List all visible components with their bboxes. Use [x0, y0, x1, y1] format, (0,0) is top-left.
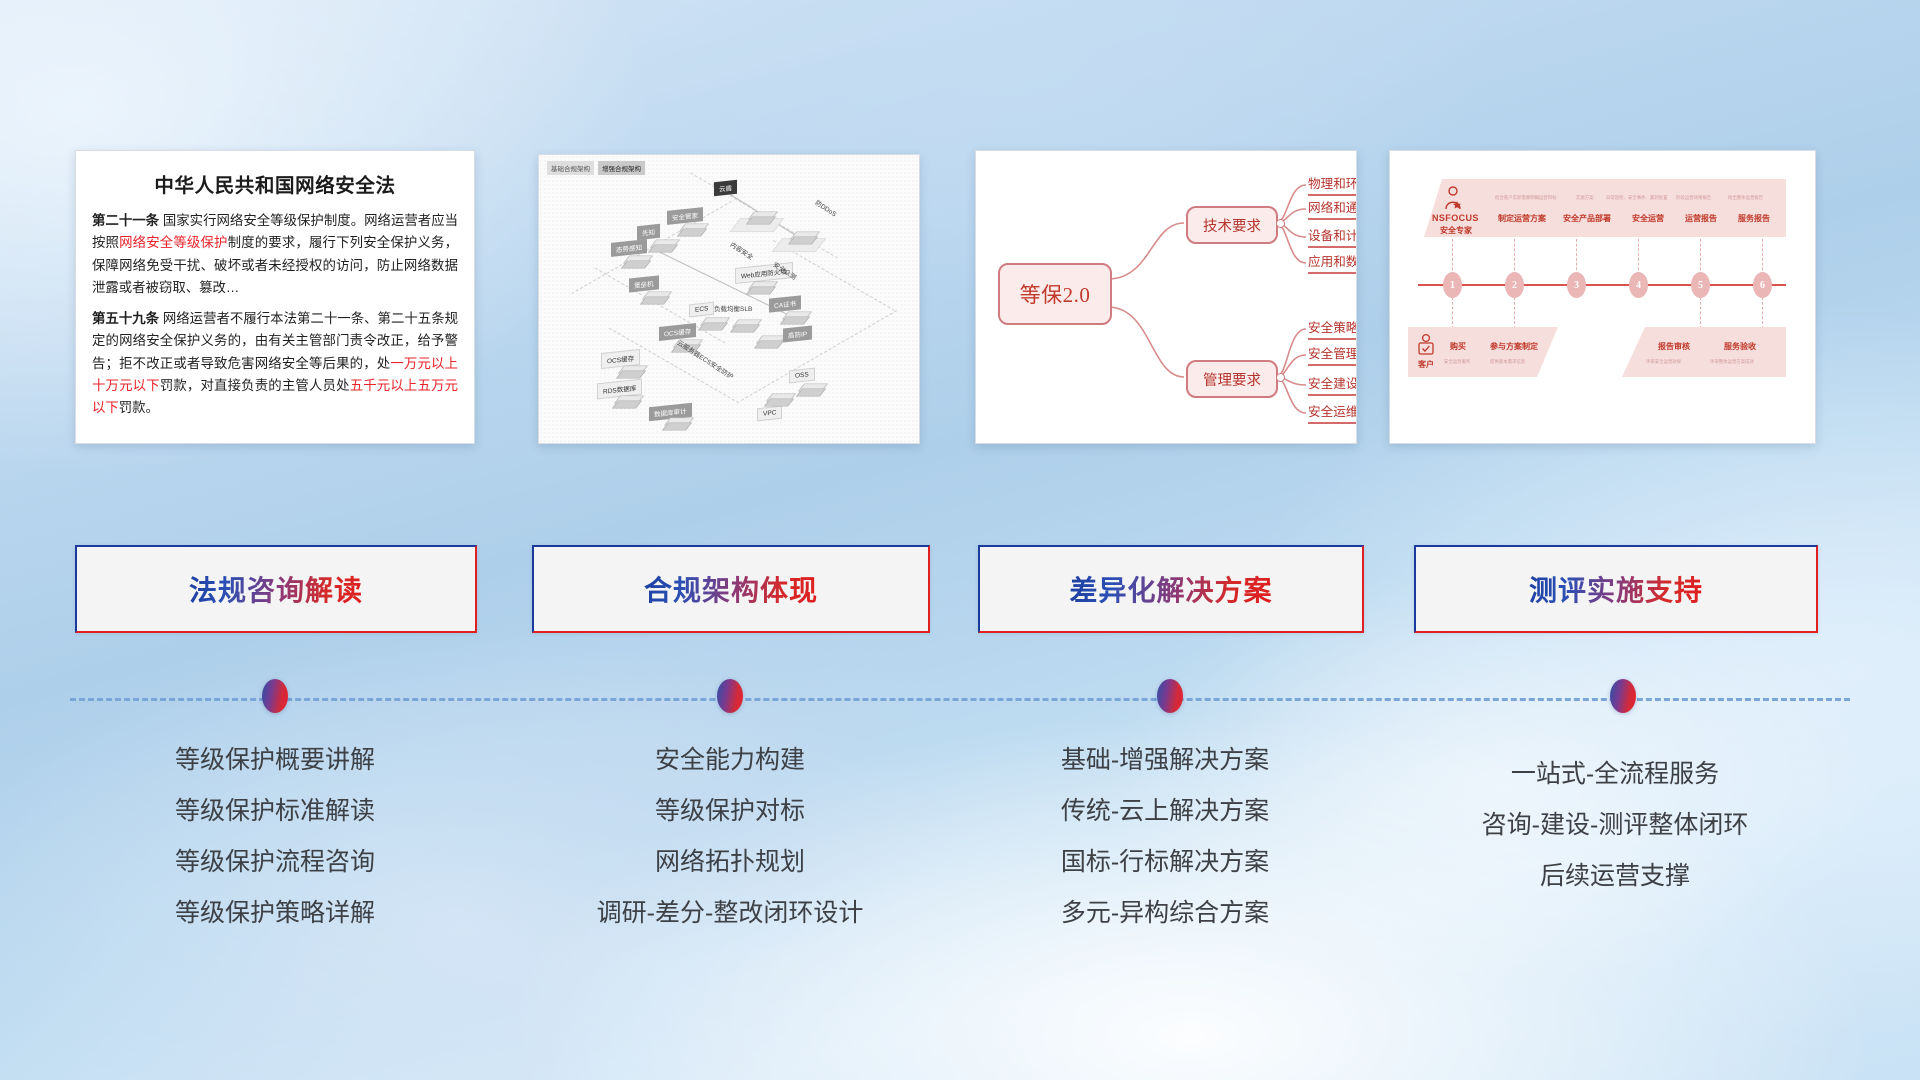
- timeline-node-2[interactable]: [717, 679, 743, 713]
- mindmap-connector-dot[interactable]: [1276, 373, 1285, 382]
- arch-label-slb: 负载均衡SLB: [714, 303, 752, 313]
- timeline-drop-line: [1514, 297, 1515, 329]
- detail-item: 等级保护概要讲解: [75, 735, 475, 786]
- detail-item: 传统-云上解决方案: [965, 786, 1365, 837]
- detail-item: 调研-差分-整改闭环设计: [530, 888, 930, 939]
- detail-item: 等级保护标准解读: [75, 786, 475, 837]
- arch-label-anti-ddos: 防DDoS: [814, 197, 839, 218]
- timeline-drop-line: [1700, 239, 1701, 275]
- timeline-bottom-title: 参与方案制定: [1490, 341, 1538, 352]
- card-service-timeline[interactable]: NSFOCUS 安全专家 结合客户实际需要明确运营目标 制定运营方案 实施方案 …: [1389, 150, 1816, 444]
- timeline-bottom-title: 报告审核: [1658, 341, 1690, 352]
- timeline-top-title: 服务报告: [1738, 213, 1770, 224]
- mindmap-root[interactable]: 等保2.0: [998, 263, 1112, 325]
- arch-tab-enhanced[interactable]: 增强合规架构: [598, 161, 645, 175]
- category-button-solution[interactable]: 差异化解决方案: [978, 545, 1364, 633]
- arch-node-cloud-shield[interactable]: 云盾: [714, 180, 737, 196]
- arch-label-content-security: 内容安全: [729, 239, 756, 262]
- mindmap-branch-management[interactable]: 管理要求: [1186, 360, 1278, 398]
- detail-item: 等级保护对标: [530, 786, 930, 837]
- law-article-21-label: 第二十一条: [92, 213, 159, 228]
- timeline-top-title: 安全产品部署: [1563, 213, 1611, 224]
- timeline-top-sub: 日常巡检、安全事件、漏洞处置: [1606, 195, 1667, 201]
- mindmap-leaf[interactable]: 安全策略和管理制度: [1308, 317, 1357, 340]
- timeline-bottom-sub: 安全运营服务: [1444, 359, 1470, 365]
- mindmap-connector-dot[interactable]: [1276, 219, 1285, 228]
- timeline-drop-line: [1576, 239, 1577, 275]
- timeline-dashed-line: [70, 698, 1850, 701]
- timeline-step[interactable]: 4: [1629, 272, 1648, 298]
- arch-tabs[interactable]: 基础合规架构 增强合规架构: [547, 161, 645, 175]
- detail-item: 咨询-建设-测评整体闭环: [1405, 800, 1825, 851]
- timeline-drop-line: [1514, 239, 1515, 275]
- timeline-bottom-right-banner: [1622, 327, 1786, 377]
- detail-item: 基础-增强解决方案: [965, 735, 1365, 786]
- timeline-drop-line: [1700, 297, 1701, 329]
- detail-item: 等级保护策略详解: [75, 888, 475, 939]
- timeline-node-3[interactable]: [1157, 679, 1183, 713]
- customer-icon: [1416, 333, 1436, 357]
- category-button-regulation[interactable]: 法规咨询解读: [75, 545, 477, 633]
- timeline-bottom-sub: 评审安全运营效果: [1646, 359, 1681, 365]
- arch-tab-basic[interactable]: 基础合规架构: [547, 161, 594, 175]
- arch-label-ecs-protection: 云服务器ECS安全防护: [676, 337, 736, 381]
- category-button-label: 法规咨询解读: [189, 569, 363, 609]
- timeline-drop-line: [1762, 297, 1763, 329]
- detail-item: 一站式-全流程服务: [1405, 749, 1825, 800]
- timeline-drop-line: [1452, 297, 1453, 329]
- mindmap-leaf[interactable]: 安全运维管理: [1308, 401, 1357, 424]
- law-title: 中华人民共和国网络安全法: [92, 169, 458, 198]
- card-row: 中华人民共和国网络安全法 第二十一条 国家实行网络安全等级保护制度。网络运营者应…: [0, 150, 1920, 460]
- timeline-top-title: 运营报告: [1685, 213, 1717, 224]
- timeline-drop-line: [1452, 239, 1453, 275]
- expert-brand: NSFOCUS: [1432, 213, 1479, 223]
- expert-role: 安全专家: [1440, 225, 1472, 236]
- category-button-architecture[interactable]: 合规架构体现: [532, 545, 930, 633]
- law-article-59-text-c: 罚款。: [119, 400, 159, 415]
- category-button-label: 测评实施支持: [1529, 569, 1703, 609]
- mindmap-leaf[interactable]: 设备和计算安全: [1308, 225, 1357, 248]
- timeline-top-title: 制定运营方案: [1498, 213, 1546, 224]
- arch-node-vpc[interactable]: VPC: [757, 406, 782, 422]
- detail-item: 安全能力构建: [530, 735, 930, 786]
- mindmap-leaf[interactable]: 安全建设管理: [1308, 373, 1357, 396]
- detail-item: 国标-行标解决方案: [965, 837, 1365, 888]
- timeline-bottom-title: 购买: [1450, 341, 1466, 352]
- detail-item: 网络拓扑规划: [530, 837, 930, 888]
- timeline-step[interactable]: 2: [1505, 272, 1524, 298]
- timeline-node-1[interactable]: [262, 679, 288, 713]
- law-article-21-highlight: 网络安全等级保护: [119, 235, 228, 250]
- arch-node-anti-ddos-ip[interactable]: 高防IP: [783, 325, 812, 342]
- mindmap-leaf[interactable]: 安全管理机构和人员: [1308, 343, 1357, 366]
- timeline-node-4[interactable]: [1610, 679, 1636, 713]
- detail-item: 多元-异构综合方案: [965, 888, 1365, 939]
- timeline-drop-line: [1762, 239, 1763, 275]
- timeline-top-sub: 实施方案: [1576, 195, 1594, 201]
- card-law-text[interactable]: 中华人民共和国网络安全法 第二十一条 国家实行网络安全等级保护制度。网络运营者应…: [75, 150, 475, 444]
- card-architecture-diagram[interactable]: 基础合规架构 增强合规架构 云盾 安全管家 先知 态势感知 堡垒机 ECS: [538, 154, 920, 444]
- timeline-step[interactable]: 1: [1443, 272, 1462, 298]
- timeline-bottom-sub: 提供基本需求信息: [1490, 359, 1525, 365]
- mindmap-branch-technical[interactable]: 技术要求: [1186, 206, 1278, 244]
- detail-column-architecture: 安全能力构建 等级保护对标 网络拓扑规划 调研-差分-整改闭环设计: [530, 735, 930, 939]
- timeline-step[interactable]: 5: [1691, 272, 1710, 298]
- timeline-drop-line: [1638, 239, 1639, 275]
- timeline-bottom-sub: 评审整体运营方案成效: [1710, 359, 1754, 365]
- security-expert-icon: [1442, 185, 1464, 211]
- detail-column-assessment: 一站式-全流程服务 咨询-建设-测评整体闭环 后续运营支撑: [1405, 735, 1825, 902]
- timeline-step[interactable]: 6: [1753, 272, 1772, 298]
- category-button-label: 差异化解决方案: [1069, 569, 1272, 609]
- timeline-bottom-title: 服务验收: [1724, 341, 1756, 352]
- timeline-top-sub: 阶段运营效果报告: [1676, 195, 1711, 201]
- card-mindmap[interactable]: 等保2.0 技术要求 管理要求 物理和环境安全 网络和通信安全 设备和计算安全 …: [975, 150, 1357, 444]
- law-article-59-label: 第五十九条: [92, 311, 159, 326]
- mindmap-leaf[interactable]: 物理和环境安全: [1308, 173, 1357, 196]
- timeline-step[interactable]: 3: [1567, 272, 1586, 298]
- detail-column-solution: 基础-增强解决方案 传统-云上解决方案 国标-行标解决方案 多元-异构综合方案: [965, 735, 1365, 939]
- detail-item: 等级保护流程咨询: [75, 837, 475, 888]
- mindmap-leaf[interactable]: 应用和数据安全: [1308, 251, 1357, 274]
- mindmap-leaf[interactable]: 网络和通信安全: [1308, 197, 1357, 220]
- timeline-axis: [1418, 284, 1786, 286]
- customer-role: 客户: [1418, 359, 1434, 370]
- timeline-top-banner: [1424, 179, 1786, 237]
- law-article-59-text-b: 罚款，对直接负责的主管人员处: [160, 378, 350, 393]
- law-article-59: 第五十九条 网络运营者不履行本法第二十一条、第二十五条规定的网络安全保护义务的，…: [92, 308, 458, 419]
- timeline-top-sub: 给出整体运营报告: [1728, 195, 1763, 201]
- category-button-label: 合规架构体现: [644, 569, 818, 609]
- timeline-top-sub: 结合客户实际需要明确运营目标: [1495, 195, 1556, 201]
- detail-column-regulation: 等级保护概要讲解 等级保护标准解读 等级保护流程咨询 等级保护策略详解: [75, 735, 475, 939]
- category-button-row: 法规咨询解读 合规架构体现 差异化解决方案 测评实施支持: [0, 545, 1920, 645]
- detail-columns: 等级保护概要讲解 等级保护标准解读 等级保护流程咨询 等级保护策略详解 安全能力…: [0, 735, 1920, 985]
- timeline-top-title: 安全运营: [1632, 213, 1664, 224]
- detail-item: 后续运营支撑: [1405, 851, 1825, 902]
- category-button-assessment[interactable]: 测评实施支持: [1414, 545, 1818, 633]
- law-article-21: 第二十一条 国家实行网络安全等级保护制度。网络运营者应当按照网络安全等级保护制度…: [92, 210, 458, 299]
